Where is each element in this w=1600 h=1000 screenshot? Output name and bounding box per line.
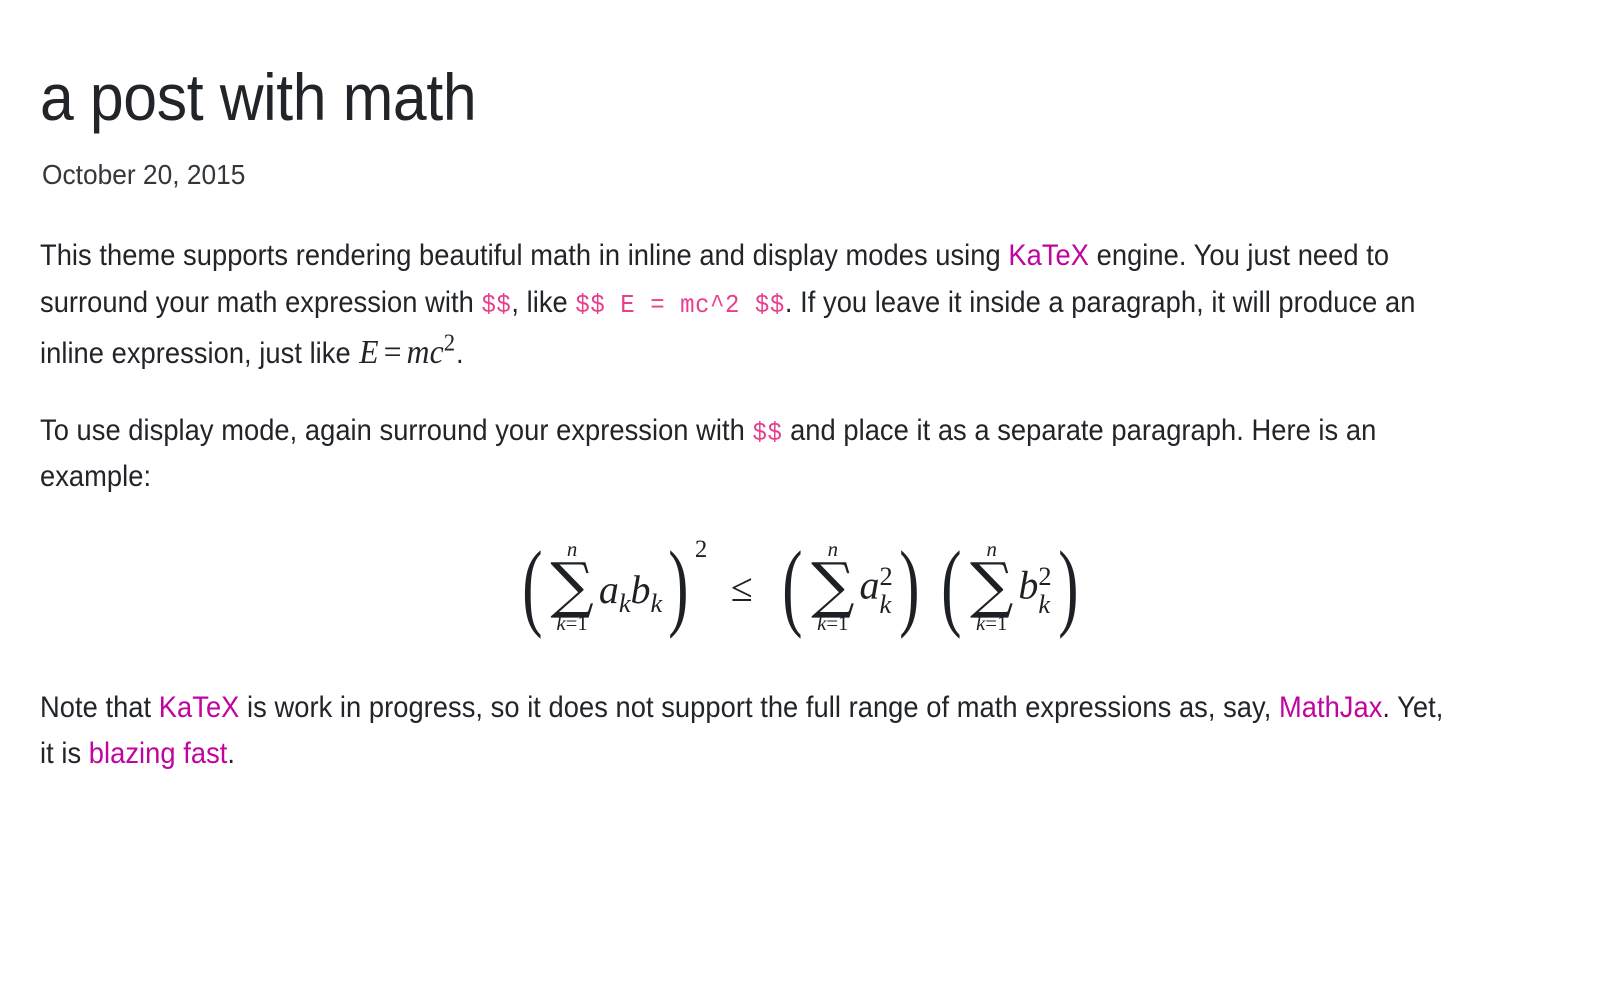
math-symbol-equals: = [379,334,407,371]
math-group-rhs-1: ( n ∑ k=1 a2k) [776,540,925,635]
math-group-rhs-2: ( n ∑ k=1 b2k) [935,540,1084,635]
code-dollars-2: $$ [753,418,783,448]
math-symbol-m: m [407,334,430,371]
math-symbol-b-2: b [1018,563,1038,608]
summation-1: n ∑ k=1 [550,540,593,635]
supsub-b-2: 2k [1038,563,1051,618]
paragraph3-text-4: . [227,737,235,770]
paren-open-1: ( [522,545,542,628]
paren-open-2: ( [783,545,803,628]
sum-lower-limit-2: k=1 [811,614,854,635]
link-katex-1[interactable]: KaTeX [1008,239,1089,272]
supsub-a-2: 2k [879,563,892,618]
code-example-mc2: $$ E = mc^2 $$ [575,290,784,320]
subscript-k-2: k [651,588,663,618]
paren-open-3: ( [942,545,962,628]
post-page: a post with math October 20, 2015 This t… [0,0,1600,777]
link-mathjax[interactable]: MathJax [1279,691,1382,724]
sum-lower-limit-3: k=1 [970,614,1013,635]
superscript-2-a: 2 [879,563,892,590]
link-katex-2[interactable]: KaTeX [159,691,240,724]
term-b-k-squared: b2k [1018,562,1051,617]
paragraph-intro: This theme supports rendering beautiful … [40,233,1446,379]
paren-close-3: ) [1058,545,1078,628]
cauchy-schwarz-inequality: ( n ∑ k=1 akbk)2 ≤ ( n ∑ k=1 a2k) ( n [516,540,1084,635]
code-dollars-1: $$ [481,290,511,320]
sigma-icon-1: ∑ [550,559,593,615]
post-body: This theme supports rendering beautiful … [40,233,1560,777]
sum-index-eq-3: =1 [985,612,1007,635]
paragraph2-text-1: To use display mode, again surround your… [40,414,753,447]
summation-2: n ∑ k=1 [811,540,854,635]
sigma-icon-3: ∑ [970,559,1013,615]
paragraph1-text-5: . [456,337,464,370]
paragraph3-text-2: is work in progress, so it does not supp… [239,691,1279,724]
math-symbol-c: c [430,334,444,371]
subscript-k-b: k [1038,591,1051,618]
paragraph1-text-3: , like [511,286,575,319]
paragraph3-text-1: Note that [40,691,159,724]
sum-index-eq-2: =1 [826,612,848,635]
paren-close-1: ) [668,545,688,628]
sum-index-eq-1: =1 [566,612,588,635]
sum-index-var-2: k [817,612,826,635]
relation-leq: ≤ [717,565,766,610]
sum-lower-limit-1: k=1 [550,614,593,635]
sum-index-var-3: k [976,612,985,635]
display-math-container: ( n ∑ k=1 akbk)2 ≤ ( n ∑ k=1 a2k) ( n [40,534,1560,645]
term-a-k-squared: a2k [859,562,892,617]
math-exponent-2: 2 [444,329,455,356]
subscript-k-a: k [879,591,892,618]
math-symbol-b-1: b [631,567,651,612]
math-symbol-a-1: a [599,567,619,612]
superscript-2-b: 2 [1038,563,1051,590]
sum-index-var-1: k [556,612,565,635]
sigma-icon-2: ∑ [811,559,854,615]
math-symbol-a-2: a [859,563,879,608]
link-blazing-fast[interactable]: blazing fast [89,737,228,770]
post-date: October 20, 2015 [42,159,1469,191]
math-group-lhs: ( n ∑ k=1 akbk)2 [516,540,708,635]
math-symbol-E: E [359,334,378,371]
subscript-k-1: k [619,588,631,618]
paragraph-note: Note that KaTeX is work in progress, so … [40,685,1446,778]
paren-close-2: ) [899,545,919,628]
inline-math-emc2: E=mc2 [358,334,456,371]
power-two: 2 [695,536,707,563]
paragraph1-text-1: This theme supports rendering beautiful … [40,239,1008,272]
paragraph-display-mode: To use display mode, again surround your… [40,408,1446,501]
summation-3: n ∑ k=1 [970,540,1013,635]
page-title: a post with math [40,62,1438,133]
term-a-k-b-k: akbk [599,570,662,610]
